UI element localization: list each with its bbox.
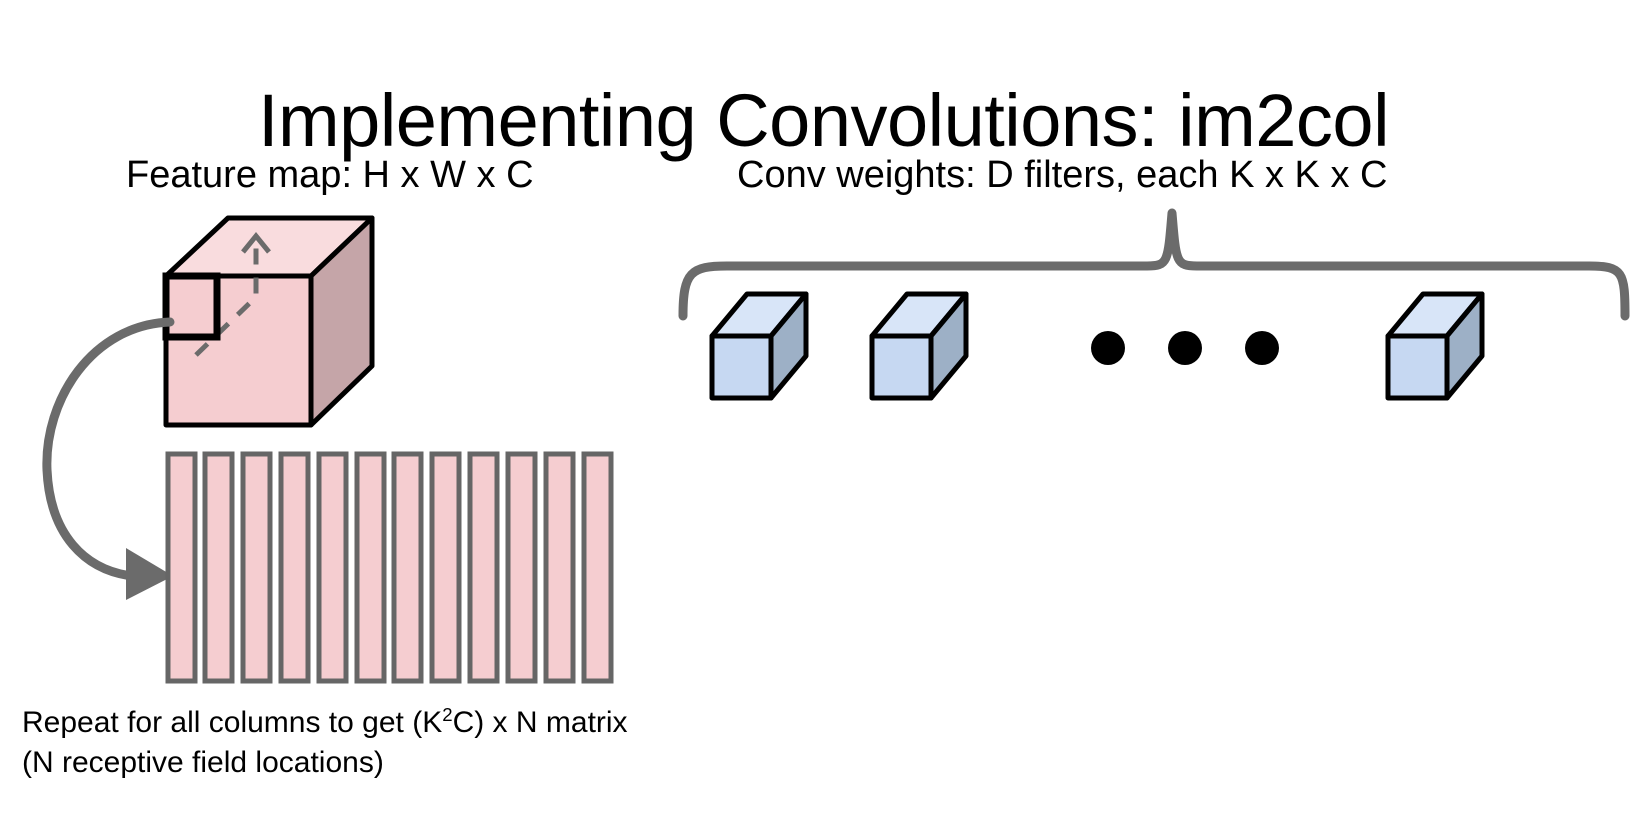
column-bar [281, 454, 308, 681]
slide-canvas: Implementing Convolutions: im2col Featur… [0, 0, 1647, 825]
bottom-note-line-1: Repeat for all columns to get (K2C) x N … [22, 703, 628, 743]
column-bar [584, 454, 611, 681]
cube-front-face [166, 276, 311, 425]
bottom-note-line-1-prefix: Repeat for all columns to get (K [22, 706, 442, 739]
column-bar [319, 454, 346, 681]
filter-cube-front-face [712, 336, 771, 398]
filter-cube-2 [872, 294, 966, 398]
column-bar [508, 454, 535, 681]
diagram-figure [0, 0, 1647, 825]
column-bar [470, 454, 497, 681]
column-bar [357, 454, 384, 681]
flow-arrow-curve-icon [47, 322, 170, 576]
column-bar [168, 454, 195, 681]
filter-cube-1 [712, 294, 806, 398]
column-bar [432, 454, 459, 681]
filter-cube-front-face [1388, 336, 1447, 398]
feature-map-cube [166, 218, 372, 425]
column-bar [243, 454, 270, 681]
bottom-note-line-2: (N receptive field locations) [22, 743, 628, 783]
ellipsis-dot [1091, 331, 1125, 365]
column-bar [546, 454, 573, 681]
bottom-note-line-1-suffix: C) x N matrix [453, 706, 628, 739]
filter-cube-front-face [872, 336, 931, 398]
column-bar [394, 454, 421, 681]
im2col-flow-arrow [47, 322, 173, 600]
filters-ellipsis [1091, 331, 1279, 365]
bottom-note-superscript: 2 [442, 704, 452, 725]
ellipsis-dot [1168, 331, 1202, 365]
bottom-note: Repeat for all columns to get (K2C) x N … [22, 703, 628, 783]
ellipsis-dot [1245, 331, 1279, 365]
column-bar [205, 454, 232, 681]
filter-cube-last [1388, 294, 1482, 398]
im2col-column-matrix [168, 454, 611, 681]
